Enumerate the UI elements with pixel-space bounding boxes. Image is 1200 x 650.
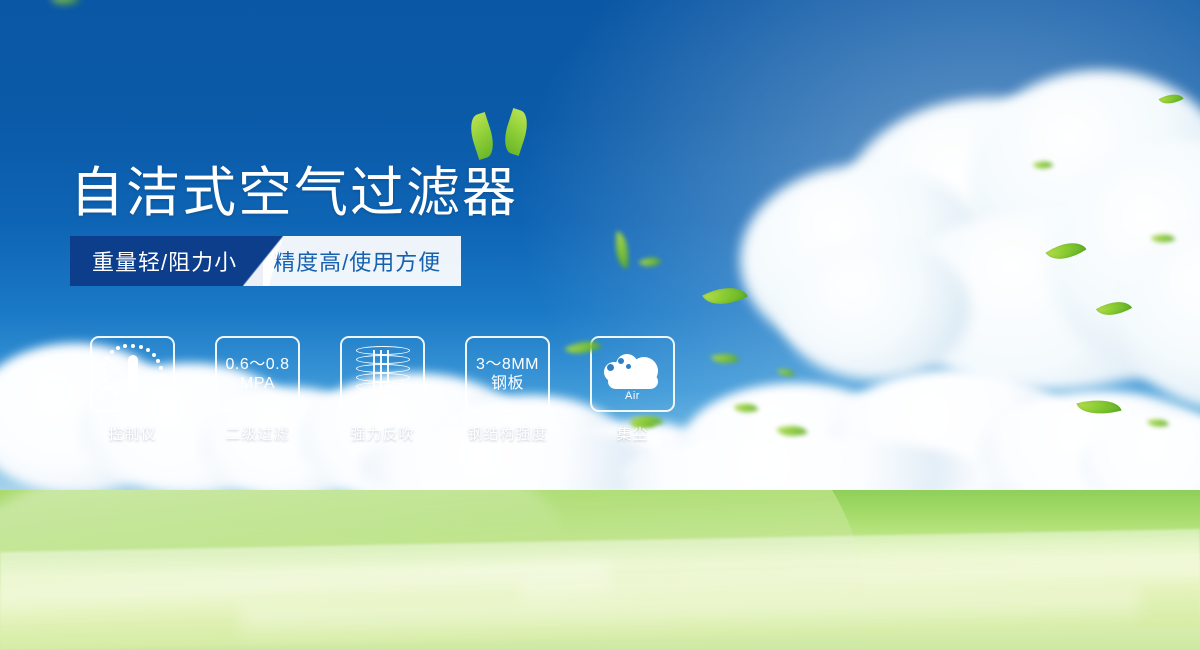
hero-banner: 自洁式空气过滤器 重量轻/阻力小 精度高/使用方便 <box>0 0 1200 650</box>
dial-graphic: NO OFF <box>102 344 164 404</box>
cloud-graphic: Air <box>602 348 664 400</box>
subtitle-right: 精度高/使用方便 <box>263 236 461 286</box>
control-dial-icon: NO OFF <box>90 336 175 412</box>
feature-label: 钢结构强度 <box>467 423 547 444</box>
dial-off-label: OFF <box>147 390 165 399</box>
feature-item-controller[interactable]: NO OFF 控制仪 <box>70 336 195 444</box>
air-label: Air <box>602 390 664 402</box>
subtitle-bar: 重量轻/阻力小 精度高/使用方便 <box>70 236 461 286</box>
steel-material: 钢板 <box>476 374 539 393</box>
feature-item-backblow[interactable]: 强力反吹 <box>320 336 445 444</box>
feature-label: 强力反吹 <box>350 423 414 444</box>
feature-label: 二级过滤 <box>225 423 289 444</box>
cloud-top-right <box>720 70 1200 400</box>
air-cloud-icon: Air <box>590 336 675 412</box>
pressure-value: 0.6～0.8 <box>226 355 290 374</box>
feature-label: 控制仪 <box>108 423 156 444</box>
feature-item-dust-collection[interactable]: Air 集尘 <box>570 336 695 444</box>
feature-item-steel-strength[interactable]: 3～8MM 钢板 钢结构强度 <box>445 336 570 444</box>
grass-field <box>0 490 1200 650</box>
pressure-unit: MPA <box>226 374 290 393</box>
subtitle-left: 重量轻/阻力小 <box>70 236 263 286</box>
steel-thickness: 3～8MM <box>476 355 539 374</box>
feature-item-secondary-filter[interactable]: 0.6～0.8 MPA 二级过滤 <box>195 336 320 444</box>
filter-coil-icon <box>340 336 425 412</box>
pressure-text-icon: 0.6～0.8 MPA <box>215 336 300 412</box>
page-title: 自洁式空气过滤器 <box>70 148 518 227</box>
steel-plate-text-icon: 3～8MM 钢板 <box>465 336 550 412</box>
dial-on-label: NO <box>101 366 114 375</box>
coil-graphic <box>356 346 410 402</box>
feature-list: NO OFF 控制仪 0.6～0.8 MPA 二级过滤 <box>70 336 695 444</box>
